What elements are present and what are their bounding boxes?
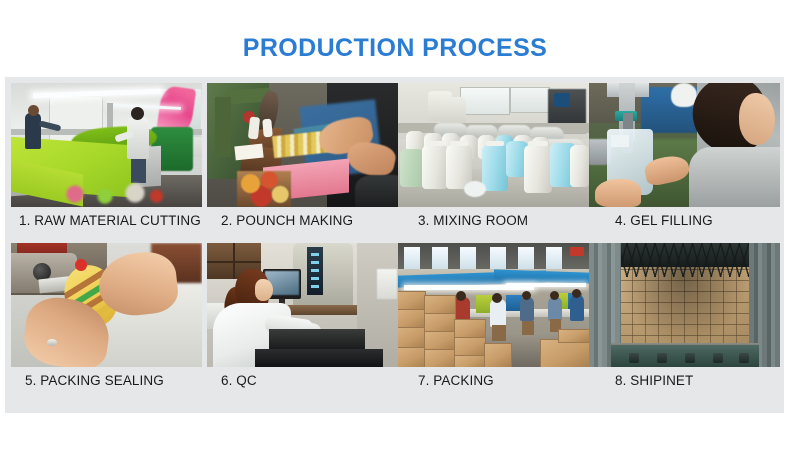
caption-step-5: 5. PACKING SEALING bbox=[25, 373, 164, 388]
caption-step-2: 2. POUNCH MAKING bbox=[221, 213, 353, 228]
process-step-5[interactable]: 5. PACKING SEALING bbox=[11, 243, 202, 367]
process-step-8[interactable]: 8. SHIPINET bbox=[589, 243, 780, 367]
caption-step-8: 8. SHIPINET bbox=[615, 373, 693, 388]
photo-mixing-room[interactable] bbox=[398, 83, 589, 207]
photo-shipinet[interactable] bbox=[589, 243, 780, 367]
production-process-page: PRODUCTION PROCESS bbox=[0, 0, 790, 465]
process-step-4[interactable]: 4. GEL FILLING bbox=[589, 83, 780, 207]
process-step-3[interactable]: 3. MIXING ROOM bbox=[398, 83, 589, 207]
caption-step-4: 4. GEL FILLING bbox=[615, 213, 713, 228]
photo-packing[interactable] bbox=[398, 243, 589, 367]
page-title: PRODUCTION PROCESS bbox=[0, 34, 790, 63]
process-step-1[interactable]: 1. RAW MATERIAL CUTTING bbox=[11, 83, 202, 207]
caption-step-7: 7. PACKING bbox=[418, 373, 494, 388]
caption-step-1: 1. RAW MATERIAL CUTTING bbox=[19, 213, 201, 228]
process-step-6[interactable]: 6. QC bbox=[207, 243, 398, 367]
process-grid-panel: 1. RAW MATERIAL CUTTING bbox=[5, 77, 784, 413]
caption-step-3: 3. MIXING ROOM bbox=[418, 213, 528, 228]
caption-step-6: 6. QC bbox=[221, 373, 257, 388]
photo-packing-sealing[interactable] bbox=[11, 243, 202, 367]
photo-pounch-making[interactable] bbox=[207, 83, 398, 207]
photo-raw-material-cutting[interactable] bbox=[11, 83, 202, 207]
process-step-7[interactable]: 7. PACKING bbox=[398, 243, 589, 367]
process-step-2[interactable]: 2. POUNCH MAKING bbox=[207, 83, 398, 207]
photo-gel-filling[interactable] bbox=[589, 83, 780, 207]
photo-qc[interactable] bbox=[207, 243, 398, 367]
